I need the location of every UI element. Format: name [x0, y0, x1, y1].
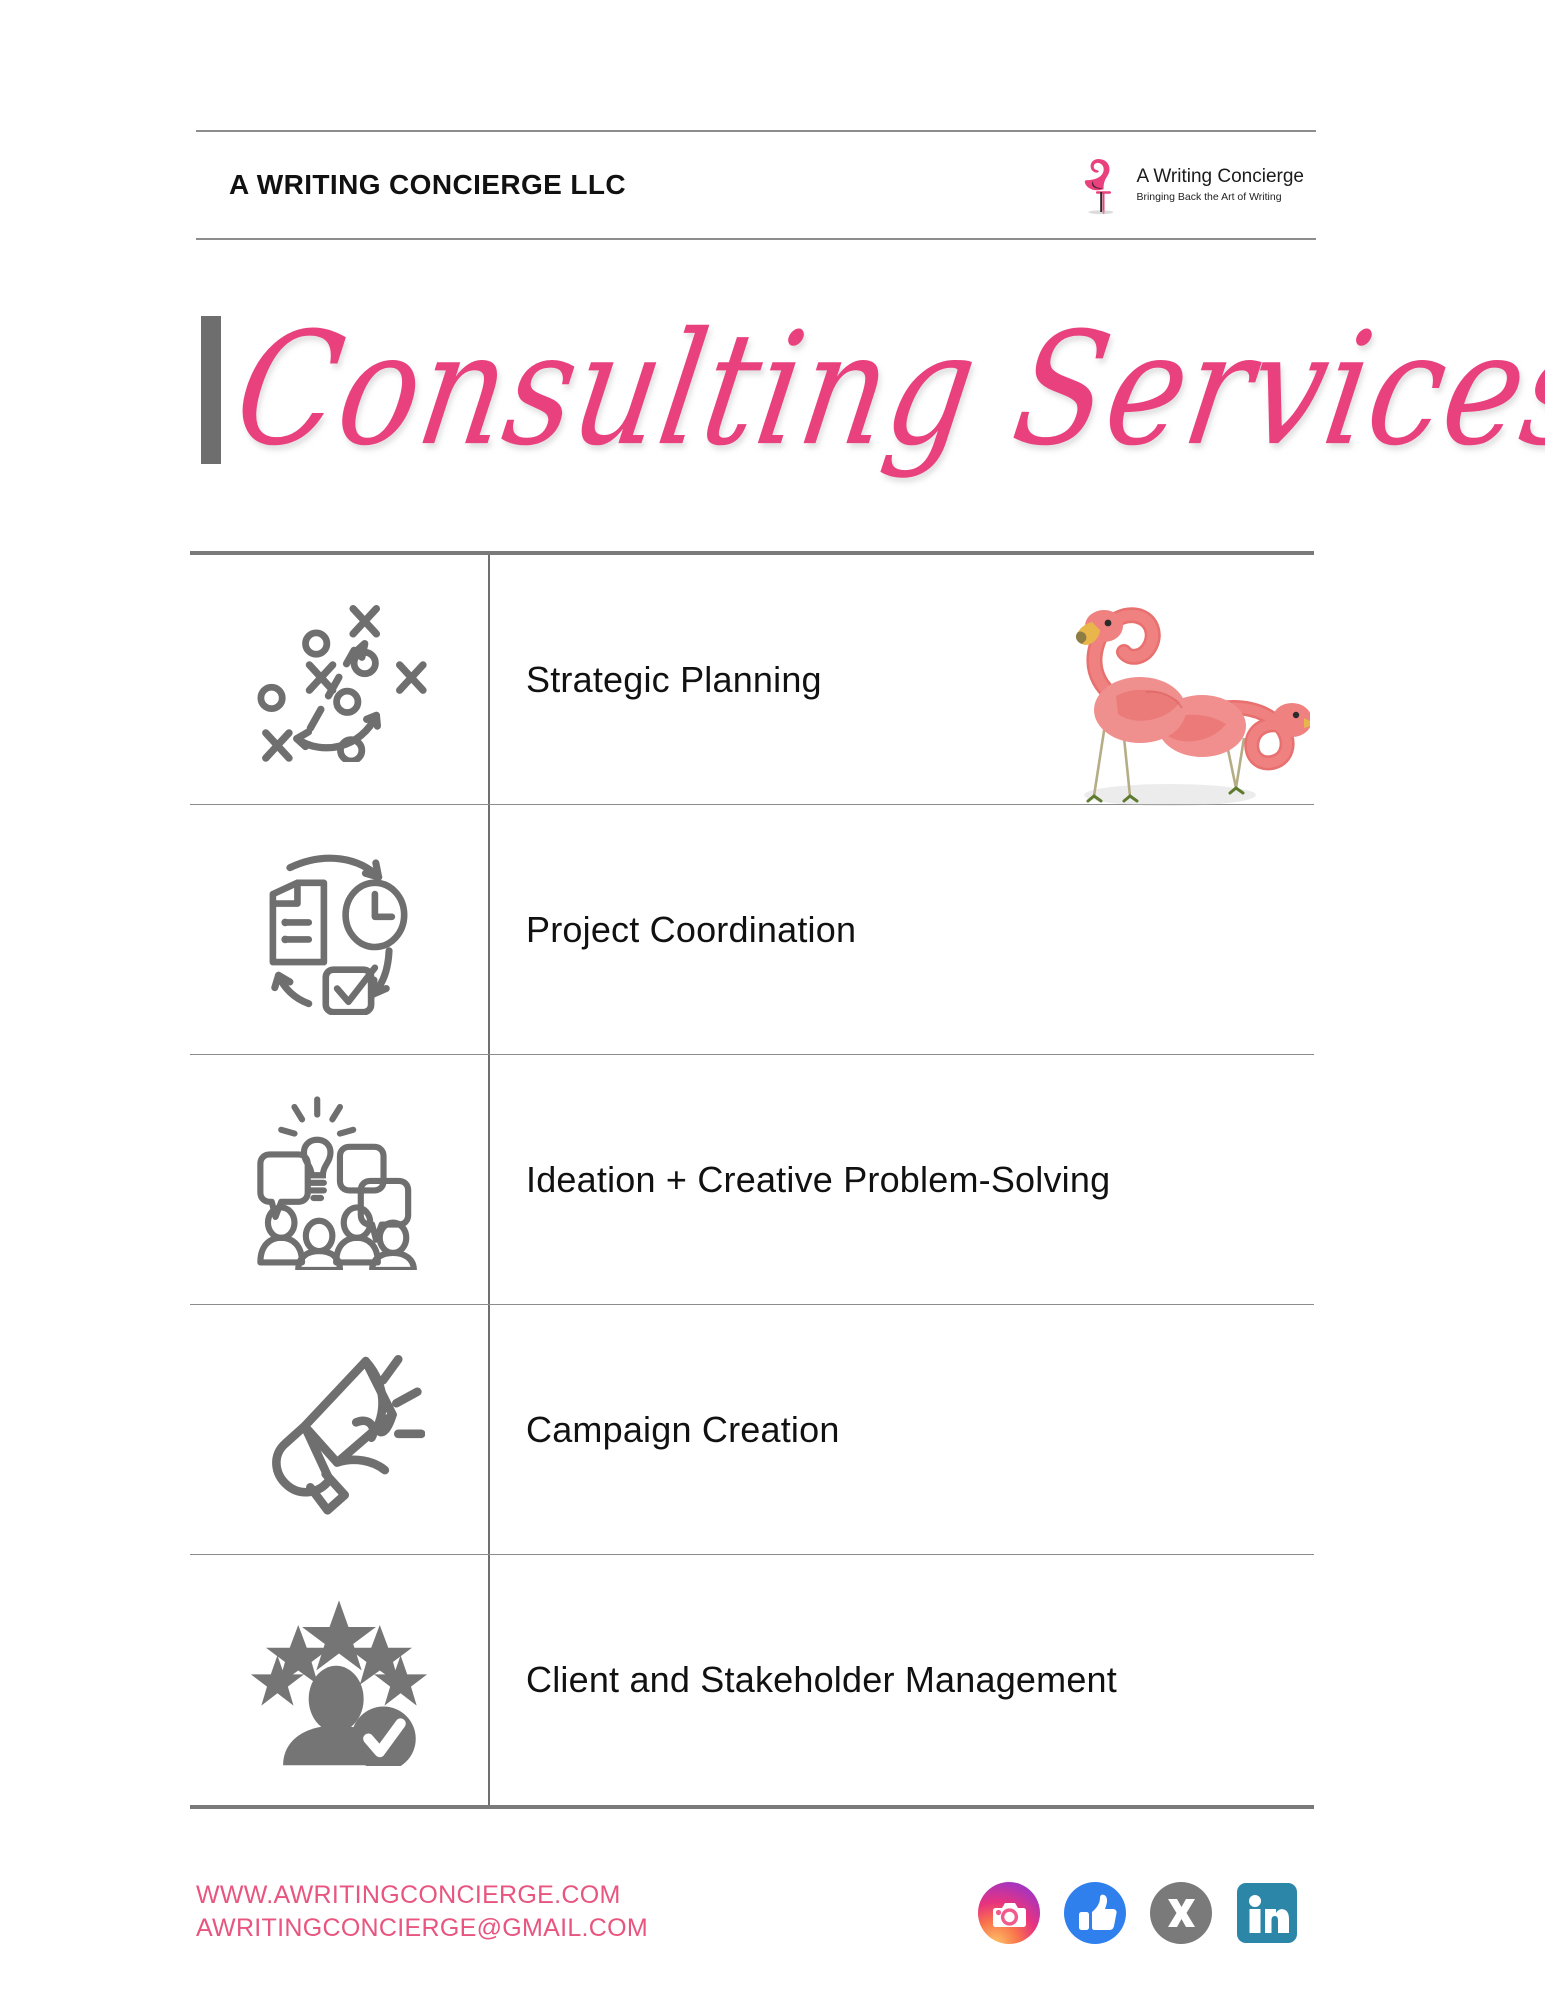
person-stars-check-icon [249, 1594, 429, 1766]
strategy-playbook-icon [252, 597, 427, 762]
table-row: Client and Stakeholder Management [190, 1555, 1314, 1805]
table-row: Campaign Creation [190, 1305, 1314, 1555]
website-link[interactable]: WWW.AWRITINGCONCIERGE.COM [196, 1880, 648, 1911]
project-cycle-icon [254, 845, 424, 1015]
brand-logo: A Writing Concierge Bringing Back the Ar… [1077, 154, 1316, 216]
service-label: Client and Stakeholder Management [526, 1659, 1117, 1701]
service-label-cell: Project Coordination [490, 805, 1314, 1054]
page-footer: WWW.AWRITINGCONCIERGE.COM AWRITINGCONCIE… [196, 1878, 1316, 1978]
service-icon-cell [190, 805, 490, 1054]
logo-text-block: A Writing Concierge Bringing Back the Ar… [1136, 166, 1304, 203]
table-row: Project Coordination [190, 805, 1314, 1055]
lightbulb-brainstorm-icon [249, 1090, 429, 1270]
service-icon-cell [190, 555, 490, 804]
logo-tagline: Bringing Back the Art of Writing [1136, 191, 1304, 204]
service-label-cell: Client and Stakeholder Management [490, 1555, 1314, 1805]
service-label: Project Coordination [526, 909, 856, 951]
service-label: Campaign Creation [526, 1409, 840, 1451]
title-accent-bar [201, 316, 221, 464]
contact-block: WWW.AWRITINGCONCIERGE.COM AWRITINGCONCIE… [196, 1878, 648, 1943]
flamingo-logo-icon [1077, 154, 1125, 216]
table-row: Strategic Planning [190, 555, 1314, 805]
logo-title: A Writing Concierge [1136, 166, 1304, 188]
email-link[interactable]: AWRITINGCONCIERGE@GMAIL.COM [196, 1913, 648, 1944]
service-label-cell: Campaign Creation [490, 1305, 1314, 1554]
company-name: A WRITING CONCIERGE LLC [196, 169, 626, 201]
flyer-page: A WRITING CONCIERGE LLC A Writing Concie… [0, 0, 1545, 2000]
service-icon-cell [190, 1305, 490, 1554]
table-row: Ideation + Creative Problem-Solving [190, 1055, 1314, 1305]
service-label-cell: Ideation + Creative Problem-Solving [490, 1055, 1314, 1304]
service-icon-cell [190, 1555, 490, 1805]
page-title: Consulting Services [227, 312, 1545, 468]
service-label-cell: Strategic Planning [490, 555, 1314, 804]
megaphone-icon [253, 1344, 425, 1516]
x-twitter-icon[interactable] [1150, 1882, 1212, 1944]
service-label: Strategic Planning [526, 659, 822, 701]
facebook-thumbs-up-icon[interactable] [1064, 1882, 1126, 1944]
instagram-icon[interactable] [978, 1882, 1040, 1944]
page-title-row: Consulting Services [196, 280, 1316, 500]
social-links [978, 1878, 1316, 1944]
service-icon-cell [190, 1055, 490, 1304]
service-label: Ideation + Creative Problem-Solving [526, 1159, 1110, 1201]
page-header: A WRITING CONCIERGE LLC A Writing Concie… [196, 130, 1316, 240]
services-table: Strategic Planning [190, 551, 1314, 1809]
linkedin-icon[interactable] [1236, 1882, 1298, 1944]
